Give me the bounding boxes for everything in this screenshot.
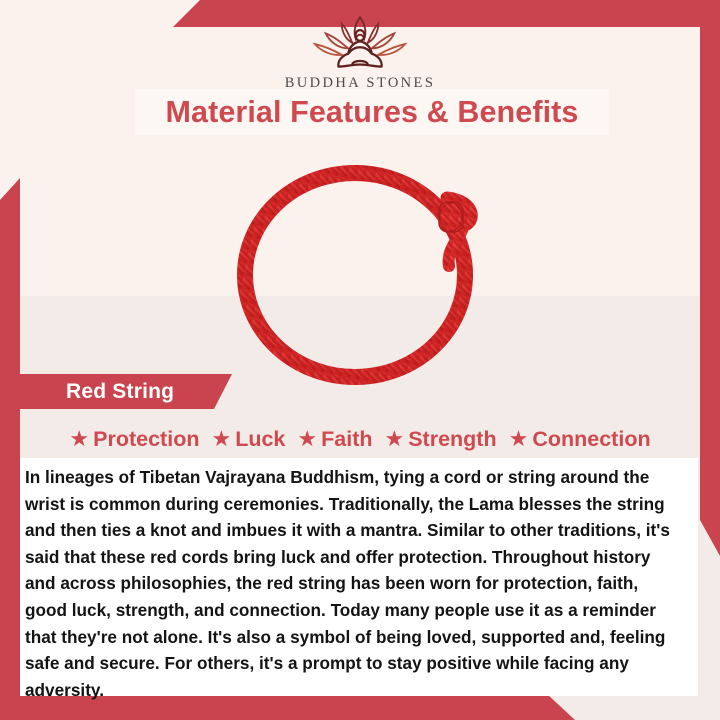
- star-icon: ★: [69, 428, 89, 450]
- benefit-label: Protection: [93, 427, 199, 452]
- benefit-item-luck: ★ Luck: [206, 427, 290, 452]
- star-icon: ★: [384, 428, 404, 450]
- red-string-bracelet-image: [215, 150, 505, 390]
- benefit-label: Luck: [235, 427, 285, 452]
- benefit-label: Connection: [532, 427, 650, 452]
- description-panel: In lineages of Tibetan Vajrayana Buddhis…: [20, 458, 698, 696]
- lotus-meditation-icon: [306, 14, 414, 72]
- benefit-label: Strength: [408, 427, 496, 452]
- star-icon: ★: [211, 428, 231, 450]
- description-text: In lineages of Tibetan Vajrayana Buddhis…: [25, 464, 684, 703]
- brand-lockup: BUDDHA STONES: [0, 14, 720, 92]
- benefit-item-strength: ★ Strength: [379, 427, 501, 452]
- star-icon: ★: [297, 428, 317, 450]
- page-title: Material Features & Benefits: [166, 95, 579, 130]
- product-label-text: Red String: [66, 380, 174, 404]
- benefit-item-protection: ★ Protection: [64, 427, 204, 452]
- title-banner: Material Features & Benefits: [135, 89, 609, 135]
- product-label-ribbon: Red String: [20, 374, 232, 409]
- benefit-label: Faith: [321, 427, 372, 452]
- star-icon: ★: [509, 428, 529, 450]
- infographic-page: BUDDHA STONES Material Features & Benefi…: [0, 0, 720, 720]
- benefits-row: ★ Protection ★ Luck ★ Faith ★ Strength ★…: [20, 420, 700, 458]
- benefit-item-connection: ★ Connection: [504, 427, 656, 452]
- benefit-item-faith: ★ Faith: [292, 427, 377, 452]
- frame-accent-left: [0, 178, 20, 720]
- product-photo: [215, 150, 505, 390]
